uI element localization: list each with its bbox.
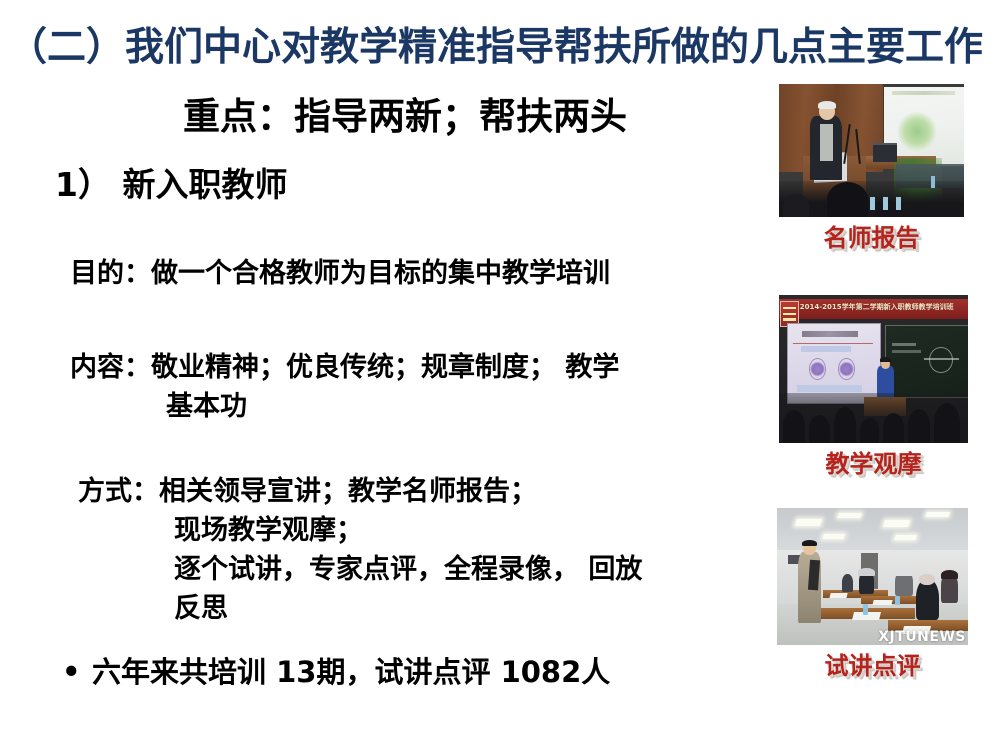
subhead-number: 1 (55, 165, 78, 204)
screen-title-bar (892, 91, 955, 95)
ceiling-lamp-1 (795, 519, 822, 526)
method-line-3: 逐个试讲，专家点评，全程录像， 回放 (78, 550, 642, 589)
slide-text-line (801, 346, 851, 351)
chalk-line-1 (892, 343, 915, 347)
teaching-observation-photo: 2014-2015学年第二学期新入职教师教学培训班 (779, 295, 968, 443)
paper-2 (872, 600, 892, 605)
expert-lecture-photo-block: 名师报告 (779, 84, 964, 253)
speaker-shirt (820, 124, 833, 161)
method-line-2: 现场教学观摩； (78, 511, 642, 550)
expert-lecture-photo (779, 84, 964, 217)
student-head-1 (783, 410, 806, 443)
subhead-label: 新入职教师 (122, 165, 287, 204)
slide-diagram-left (810, 359, 825, 379)
water-bottle-2 (883, 197, 889, 210)
slide-rule-line (793, 343, 873, 344)
laptop (873, 143, 897, 162)
classroom-banner: 2014-2015学年第二学期新入职教师教学培训班 (779, 299, 968, 318)
student-head-3 (834, 407, 857, 443)
trial-lecture-review-caption: 试讲点评 (777, 651, 968, 681)
speaker-hair (818, 101, 837, 109)
training-sessions-count: 13 (276, 655, 316, 689)
key-point-heading: 重点：指导两新；帮扶两头 (60, 90, 750, 142)
attendee-1 (842, 574, 853, 592)
ceiling-lamp-4 (925, 512, 950, 517)
projection-slide (787, 323, 882, 403)
expert-lecture-caption: 名师报告 (779, 223, 964, 253)
slide-diagram-right (839, 359, 854, 379)
method-paragraph: 方式：相关领导宣讲；教学名师报告； 现场教学观摩； 逐个试讲，专家点评，全程录像… (78, 472, 642, 628)
teacher-hair (880, 357, 891, 362)
screen-graphic (898, 111, 935, 152)
attendee-3-hair (895, 568, 913, 576)
water-bottle-2 (895, 596, 900, 606)
water-bottle-1 (863, 604, 868, 615)
bullet-text-1: 六年来共培训 (92, 655, 276, 689)
slide-footer-line (797, 385, 862, 391)
student-head-4 (860, 418, 879, 443)
trial-lecture-review-photo: XJTUNEWS (777, 508, 968, 645)
ceiling-lamp-5 (822, 534, 845, 539)
slide-title-line (802, 331, 858, 336)
ceiling-lamp-3 (883, 520, 910, 527)
content-line-1: 内容：敬业精神；优良传统；规章制度； 教学 (70, 352, 619, 383)
trial-lecture-review-photo-block: XJTUNEWS 试讲点评 (777, 508, 968, 681)
slide-root: （二）我们中心对教学精准指导帮扶所做的几点主要工作 重点：指导两新；帮扶两头 1… (0, 0, 1000, 750)
news-watermark: XJTUNEWS (878, 630, 966, 644)
purpose-paragraph: 目的：做一个合格教师为目标的集中教学培训 (70, 254, 610, 293)
method-line-1: 方式：相关领导宣讲；教学名师报告； (78, 476, 537, 507)
teaching-observation-photo-block: 2014-2015学年第二学期新入职教师教学培训班 (779, 295, 968, 479)
subhead-new-teachers: 1） 新入职教师 (55, 162, 287, 208)
attendee-4 (916, 579, 939, 620)
content-column: 重点：指导两新；帮扶两头 1） 新入职教师 目的：做一个合格教师为目标的集中教学… (0, 90, 770, 740)
content-paragraph: 内容：敬业精神；优良传统；规章制度； 教学 基本功 (70, 348, 619, 426)
teaching-observation-caption: 教学观摩 (779, 449, 968, 479)
paper-1 (830, 593, 849, 598)
student-head-5 (883, 413, 904, 443)
attendee-2-hair (858, 568, 874, 576)
water-bottle-4 (931, 176, 936, 188)
bullet-marker: • (62, 652, 92, 692)
attendee-5-hair (941, 570, 958, 580)
student-head-6 (908, 409, 931, 443)
student-head-7 (934, 403, 960, 443)
ceiling-lamp-2 (837, 513, 862, 518)
slide-title: （二）我们中心对教学精准指导帮扶所做的几点主要工作 (8, 22, 992, 72)
bullet-text-3: 人 (581, 655, 610, 689)
water-bottle-1 (870, 197, 876, 210)
purpose-line-1: 目的：做一个合格教师为目标的集中教学培训 (70, 258, 610, 289)
blackboard (885, 325, 968, 398)
presenter-hair (802, 540, 817, 547)
chalk-axis (924, 358, 959, 360)
banner-text: 2014-2015学年第二学期新入职教师教学培训班 (800, 301, 966, 316)
bullet-text-2: 期，试讲点评 (316, 655, 500, 689)
student-head-2 (809, 415, 830, 443)
content-line-2: 基本功 (70, 387, 619, 426)
summary-bullet: •六年来共培训 13期，试讲点评 1082人 (62, 652, 610, 692)
audience-head-center (827, 182, 868, 217)
attendee-4-head (919, 574, 934, 585)
audience-head-left (783, 194, 809, 217)
method-line-4: 反思 (78, 589, 642, 628)
chalk-circle (929, 347, 953, 373)
subhead-paren: ） (78, 165, 111, 204)
reviewed-people-count: 1082 (501, 655, 582, 689)
ceiling-lamp-6 (895, 535, 918, 540)
chalk-line-2 (892, 350, 920, 353)
water-bottle-3 (896, 197, 902, 210)
